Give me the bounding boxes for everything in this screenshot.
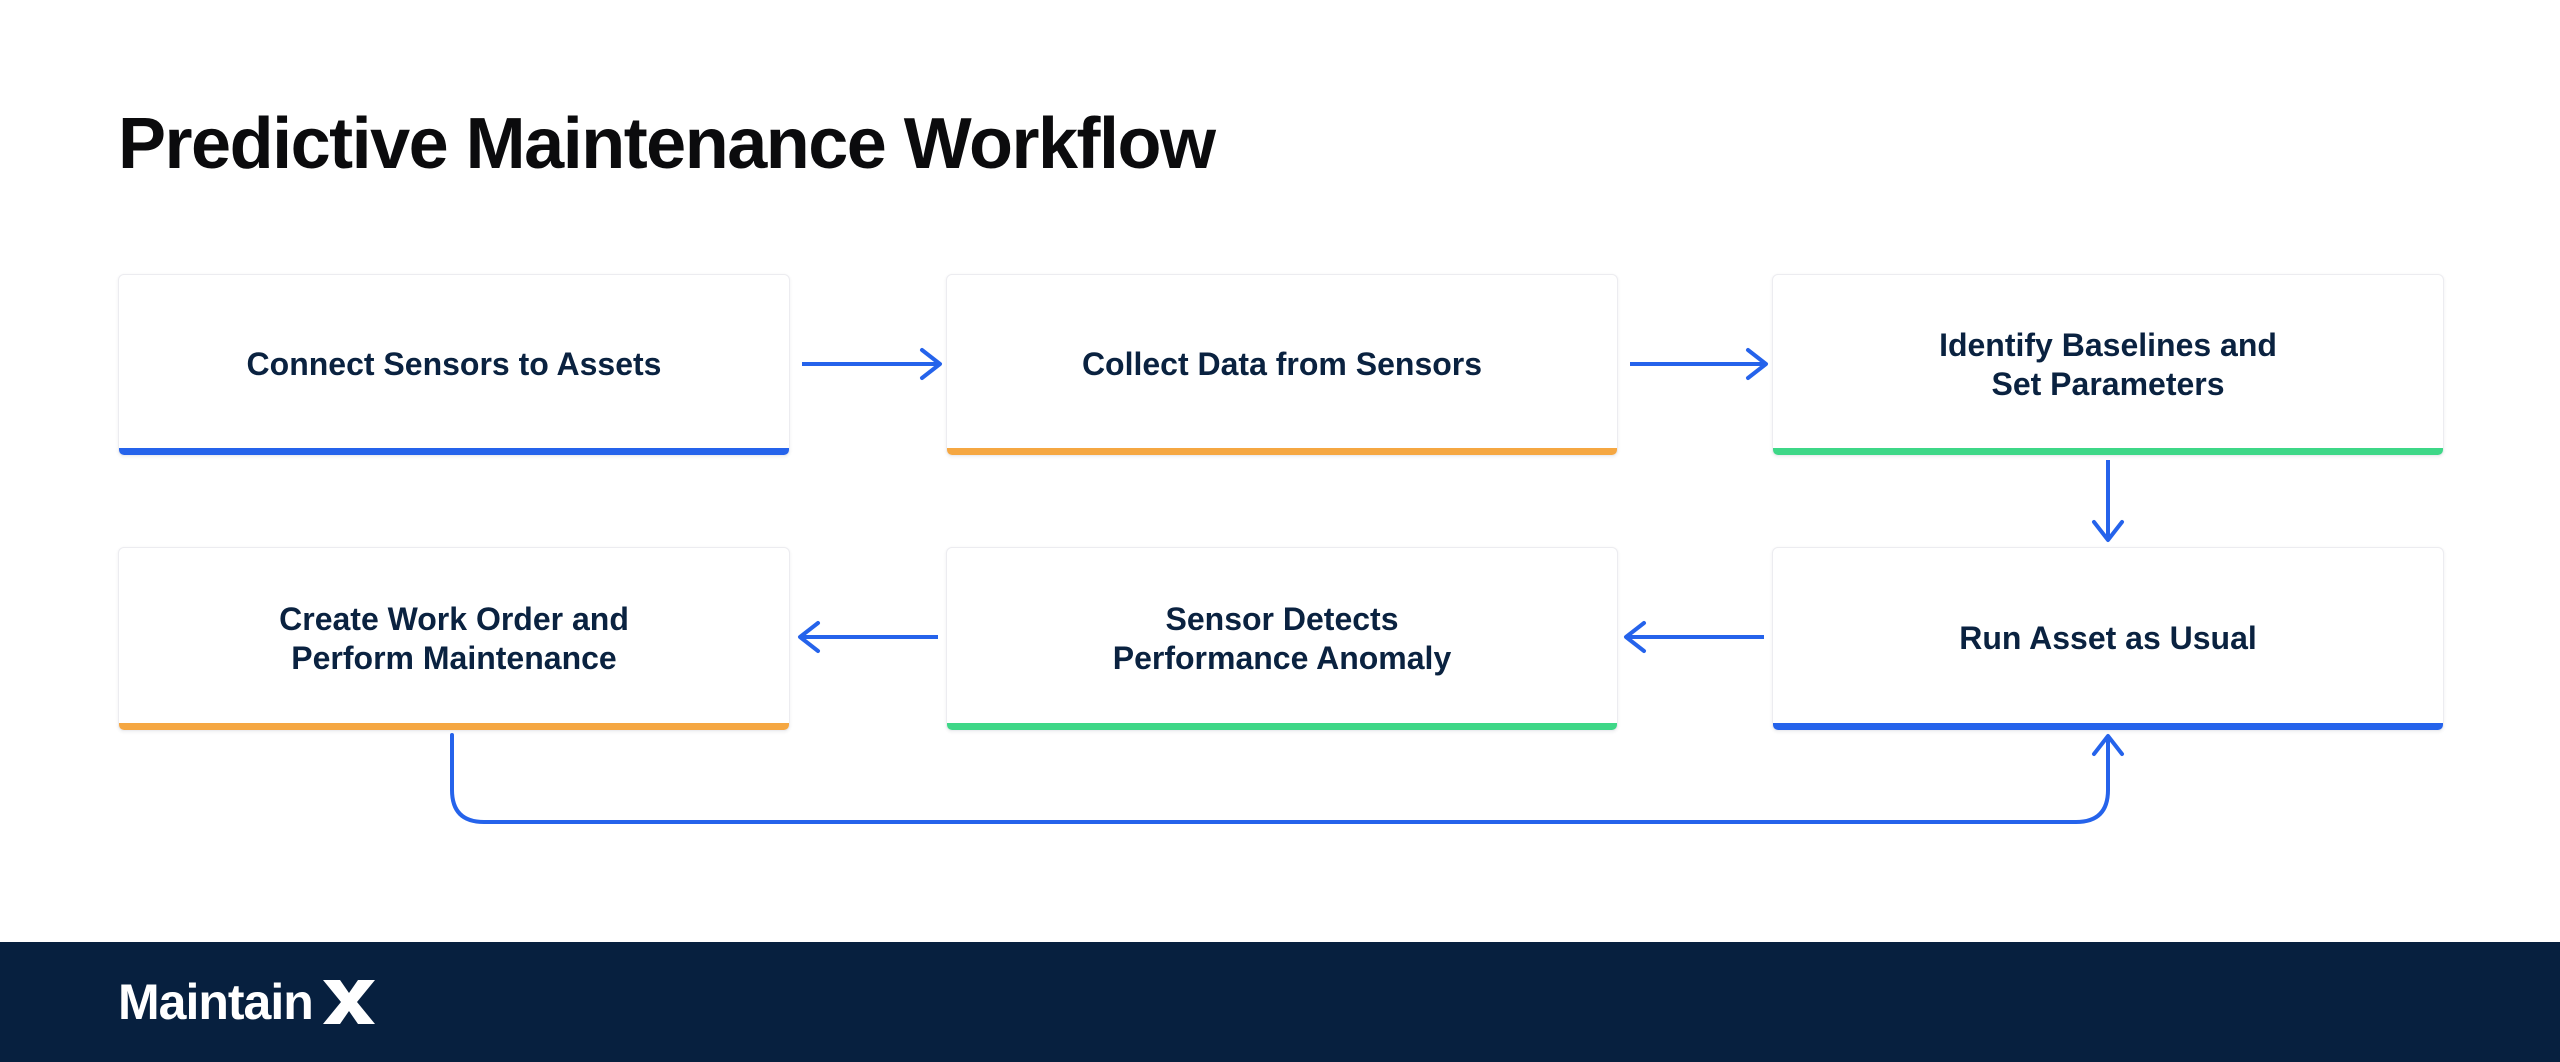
arrow-sensor-detects-to-work-order	[800, 623, 938, 651]
flow-box-label: Connect Sensors to Assets	[221, 345, 688, 384]
accent-bar-green	[1773, 448, 2443, 455]
flow-box-label: Identify Baselines and Set Parameters	[1913, 326, 2303, 404]
flow-box-label: Run Asset as Usual	[1933, 619, 2283, 658]
diagram-canvas: Predictive Maintenance Workflow	[0, 0, 2560, 1062]
flow-box-label: Sensor Detects Performance Anomaly	[1087, 600, 1477, 678]
flow-box-run-asset[interactable]: Run Asset as Usual	[1772, 547, 2444, 731]
accent-bar-orange	[119, 723, 789, 730]
flow-box-label: Create Work Order and Perform Maintenanc…	[253, 600, 655, 678]
flow-box-connect-sensors[interactable]: Connect Sensors to Assets	[118, 274, 790, 456]
flow-box-label: Collect Data from Sensors	[1056, 345, 1508, 384]
brand-wordmark: Maintain	[118, 977, 313, 1027]
flow-box-create-work-order[interactable]: Create Work Order and Perform Maintenanc…	[118, 547, 790, 731]
flow-box-sensor-detects[interactable]: Sensor Detects Performance Anomaly	[946, 547, 1618, 731]
arrow-collect-to-identify	[1630, 350, 1766, 378]
accent-bar-green	[947, 723, 1617, 730]
arrow-work-order-to-run-loop	[452, 735, 2122, 822]
arrow-connect-to-collect	[802, 350, 940, 378]
accent-bar-blue	[1773, 723, 2443, 730]
flow-box-identify-baselines[interactable]: Identify Baselines and Set Parameters	[1772, 274, 2444, 456]
footer-band: Maintain	[0, 942, 2560, 1062]
accent-bar-orange	[947, 448, 1617, 455]
accent-bar-blue	[119, 448, 789, 455]
flow-box-collect-data[interactable]: Collect Data from Sensors	[946, 274, 1618, 456]
maintainx-logo: Maintain	[118, 977, 375, 1027]
arrow-run-to-sensor-detects	[1626, 623, 1764, 651]
arrow-identify-to-run	[2094, 460, 2122, 540]
maintainx-x-icon	[323, 978, 375, 1026]
page-title: Predictive Maintenance Workflow	[118, 108, 1214, 180]
